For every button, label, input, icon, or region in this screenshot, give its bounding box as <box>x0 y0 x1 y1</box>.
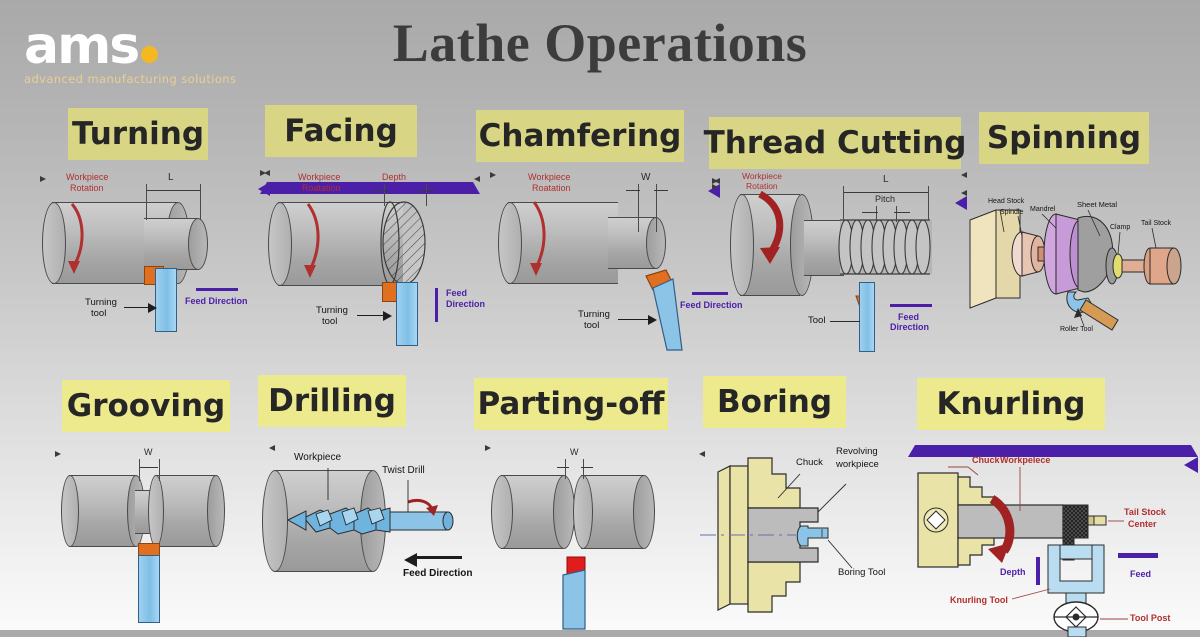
label-workpiece-rotation-l2: Rotation <box>70 183 104 193</box>
label-workpiece: Workpiece <box>294 452 341 464</box>
label-chuck: Chuck <box>972 455 1000 465</box>
operation-title-grooving: Grooving <box>62 380 230 432</box>
dim-ext-left <box>139 459 140 481</box>
label-feed-l2: Direction <box>446 299 485 309</box>
label-turning-tool-l2: tool <box>322 317 337 328</box>
label-dimension-W: W <box>144 447 153 457</box>
operation-title-spinning: Spinning <box>979 112 1149 164</box>
label-tail-stock-l1: Tail Stock <box>1124 507 1166 517</box>
operation-title-thread-cutting: Thread Cutting <box>709 117 961 169</box>
diagram-spinning: Head Stock Spindle Mandrel Sheet Metal C… <box>960 180 1200 340</box>
label-workpiece-rotation-l1: Workpiece <box>528 172 570 182</box>
operation-title-facing: Facing <box>265 105 417 157</box>
L-dim-line <box>844 192 928 193</box>
diagram-parting-off: W <box>485 445 705 625</box>
label-turning-tool-l2: tool <box>584 321 599 332</box>
operation-title-chamfering: Chamfering <box>476 110 684 162</box>
depth-ext-right <box>426 184 427 206</box>
dim-ext-right <box>159 459 160 481</box>
tool-leader-arrow-icon <box>648 315 657 325</box>
grooving-tool <box>138 555 160 623</box>
tool-leader-arrow-icon <box>383 311 392 321</box>
label-turning-tool-l2: tool <box>91 309 106 320</box>
operation-title-drilling: Drilling <box>258 375 406 427</box>
label-workpiece-rotation-l2: Roatation <box>302 183 341 193</box>
turning-tool <box>396 282 418 346</box>
label-mandrel: Mandrel <box>1030 206 1055 214</box>
brand-tagline: advanced manufacturing solutions <box>24 72 274 86</box>
dim-arrow-right-icon <box>55 451 275 457</box>
faced-surface <box>260 170 480 355</box>
label-workpiece: Workpelece <box>1000 455 1050 465</box>
diagram-drilling: Workpiece Twist Drill Feed Direction <box>258 440 498 620</box>
chamfer-tool-group <box>490 184 720 369</box>
operation-title-turning: Turning <box>68 108 208 160</box>
workpiece-left-cap <box>61 475 79 547</box>
diagram-boring: Chuck Revolving workpiece Boring Tool <box>700 440 915 625</box>
thread-cutting-tool <box>859 282 875 352</box>
operation-title-parting-off: Parting-off <box>474 378 668 430</box>
depth-arrow-shaft <box>1036 557 1040 585</box>
label-dimension-W: W <box>641 172 650 184</box>
label-feed: Feed <box>1130 569 1151 579</box>
label-tail-stock-l2: Center <box>1128 519 1157 529</box>
tool-leader-line <box>124 307 150 308</box>
operation-title-boring: Boring <box>703 376 846 428</box>
label-workpiece-rotation-l2: Rotation <box>746 182 778 192</box>
turning-tool <box>155 268 177 332</box>
operation-title-knurling: Knurling <box>917 378 1105 430</box>
depth-ext-left <box>384 184 385 206</box>
page-title: Lathe Operations <box>0 12 1200 74</box>
label-head-stock: Head Stock <box>988 198 1024 206</box>
thread-tool-tip <box>712 196 967 376</box>
dim-ext-right <box>200 184 201 220</box>
label-twist-drill: Twist Drill <box>382 465 425 477</box>
feed-arrow-shaft <box>890 304 932 307</box>
label-feed-direction: Feed Direction <box>185 296 248 306</box>
label-depth: Depth <box>1000 567 1026 577</box>
tool-leader-line <box>357 315 385 316</box>
dim-line-L <box>147 190 200 191</box>
label-clamp: Clamp <box>1110 224 1130 232</box>
diagram-thread-cutting: Workpiece Rotation L Pitch Tool Feed Dir… <box>712 172 967 352</box>
feed-arrow-shaft <box>435 288 438 322</box>
label-feed-l2: Direction <box>890 322 929 332</box>
parting-tool <box>485 457 705 637</box>
diagram-knurling: Chuck Workpelece Tail Stock Center Depth… <box>908 445 1198 630</box>
label-tool-post: Tool Post <box>1130 613 1170 623</box>
label-sheet-metal: Sheet Metal <box>1077 201 1117 210</box>
workpiece-right-cap <box>207 475 225 547</box>
label-feed-direction: Feed Direction <box>403 568 472 580</box>
label-knurling-tool: Knurling Tool <box>950 595 1008 605</box>
label-revolving-workpiece-l1: Revolving <box>836 447 878 458</box>
feed-arrow-shaft <box>1118 553 1158 558</box>
diagram-facing: Workpiece Roatation Depth Feed Direction… <box>260 170 480 355</box>
dim-line-W <box>140 467 158 468</box>
label-workpiece-rotation-l1: Workpiece <box>66 172 108 182</box>
feed-arrow-head-icon <box>404 553 417 567</box>
depth-dim-right <box>418 191 434 192</box>
tool-leader-line <box>618 319 650 320</box>
label-feed-l1: Feed <box>898 312 919 322</box>
label-dimension-W: W <box>570 447 579 457</box>
label-chuck: Chuck <box>796 458 823 469</box>
feed-arrow-shaft <box>196 288 238 291</box>
label-tail-stock: Tail Stock <box>1141 220 1171 228</box>
label-dimension-L: L <box>168 172 174 184</box>
infographic-canvas: ams advanced manufacturing solutions Lat… <box>0 0 1200 630</box>
label-dimension-L: L <box>883 174 889 186</box>
diagram-turning: Workpiece Rotation L Feed Direction Turn… <box>40 170 270 355</box>
feed-arrow-shaft <box>416 556 462 559</box>
diagram-chamfering: Workpiece Roatation W Feed Direction Tur… <box>490 172 720 357</box>
label-workpiece-rotation-l1: Workpiece <box>298 172 340 182</box>
label-revolving-workpiece-l2: workpiece <box>836 460 879 471</box>
label-spindle: Spindle <box>1000 209 1023 217</box>
tool-leader-arrow-icon <box>148 303 157 313</box>
twist-drill <box>258 440 498 620</box>
label-boring-tool: Boring Tool <box>838 568 885 579</box>
label-roller-tool: Roller Tool <box>1060 326 1093 334</box>
tool-leader-line <box>830 321 860 322</box>
label-depth: Depth <box>382 172 406 182</box>
label-feed-l1: Feed <box>446 288 467 298</box>
depth-dim-left <box>372 191 388 192</box>
groove-right-wall <box>148 475 164 547</box>
diagram-grooving: W <box>55 445 275 625</box>
workpiece-right <box>155 475 215 545</box>
label-tool: Tool <box>808 316 825 327</box>
